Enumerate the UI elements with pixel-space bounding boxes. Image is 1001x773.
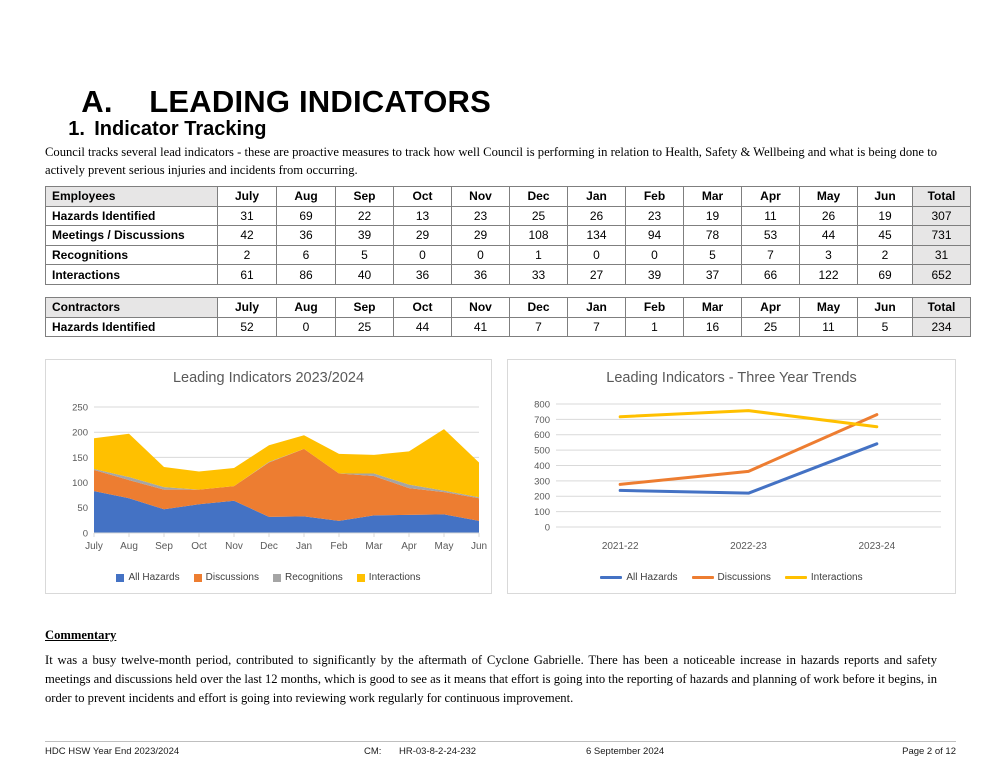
table-cell: 25: [336, 317, 394, 337]
y-axis-tick-label: 0: [545, 522, 550, 533]
legend-label: Interactions: [811, 572, 863, 583]
x-axis-tick-label: May: [435, 541, 454, 552]
y-axis-tick-label: 200: [534, 492, 550, 503]
table-cell: 7: [742, 245, 800, 265]
chart-legend: All HazardsDiscussionsInteractions: [508, 572, 955, 583]
legend-item: Discussions: [692, 572, 771, 583]
table-cell: 25: [510, 206, 568, 226]
table-cell: 29: [452, 226, 510, 246]
table-row-label: Interactions: [46, 265, 218, 285]
table-cell: 44: [394, 317, 452, 337]
table-cell: 0: [568, 245, 626, 265]
x-axis-tick-label: July: [85, 541, 103, 552]
chart-leading-indicators-trends: Leading Indicators - Three Year Trends 0…: [507, 359, 956, 594]
table-column-header: Total: [913, 187, 971, 207]
legend-swatch-icon: [194, 574, 202, 582]
table-cell: 0: [626, 245, 684, 265]
table-column-header: Sep: [336, 298, 394, 318]
line-series-all-hazards: [620, 444, 877, 493]
y-axis-tick-label: 100: [72, 478, 88, 489]
table-cell: 2: [218, 245, 277, 265]
y-axis-tick-label: 250: [72, 402, 88, 413]
table-total-cell: 731: [913, 226, 971, 246]
legend-item: Recognitions: [273, 572, 343, 583]
table-cell: 53: [742, 226, 800, 246]
x-axis-tick-label: Mar: [365, 541, 383, 552]
table-cell: 7: [568, 317, 626, 337]
table-column-header: Jun: [858, 187, 913, 207]
x-axis-tick-label: 2022-23: [730, 541, 767, 552]
x-axis-tick-label: 2023-24: [858, 541, 895, 552]
subsection-title: Indicator Tracking: [94, 118, 266, 140]
table-cell: 36: [452, 265, 510, 285]
chart-svg: 01002003004005006007008002021-222022-232…: [508, 360, 955, 593]
table-total-cell: 307: [913, 206, 971, 226]
document-page: A.LEADING INDICATORS 1.Indicator Trackin…: [0, 0, 1001, 773]
table-cell: 3: [800, 245, 858, 265]
table-column-header: Mar: [684, 298, 742, 318]
contractors-table: ContractorsJulyAugSepOctNovDecJanFebMarA…: [45, 297, 971, 337]
legend-label: Discussions: [718, 572, 771, 583]
table-column-header: Apr: [742, 187, 800, 207]
table-cell: 52: [218, 317, 277, 337]
y-axis-tick-label: 100: [534, 507, 550, 518]
x-axis-tick-label: Oct: [191, 541, 207, 552]
legend-label: Discussions: [206, 572, 259, 583]
table-column-header: Apr: [742, 298, 800, 318]
y-axis-tick-label: 600: [534, 430, 550, 441]
y-axis-tick-label: 200: [72, 428, 88, 439]
y-axis-tick-label: 50: [77, 503, 88, 514]
legend-item: Interactions: [357, 572, 421, 583]
legend-item: Interactions: [785, 572, 863, 583]
x-axis-tick-label: Jan: [296, 541, 312, 552]
table-cell: 134: [568, 226, 626, 246]
table-cell: 2: [858, 245, 913, 265]
legend-swatch-icon: [273, 574, 281, 582]
table-row-label: Hazards Identified: [46, 206, 218, 226]
table-cell: 0: [452, 245, 510, 265]
commentary-body: It was a busy twelve-month period, contr…: [45, 651, 937, 708]
y-axis-tick-label: 700: [534, 415, 550, 426]
legend-item: Discussions: [194, 572, 259, 583]
legend-item: All Hazards: [116, 572, 179, 583]
table-corner-header: Employees: [46, 187, 218, 207]
table-cell: 86: [277, 265, 336, 285]
legend-label: All Hazards: [128, 572, 179, 583]
table-cell: 5: [336, 245, 394, 265]
table-cell: 36: [277, 226, 336, 246]
legend-swatch-icon: [600, 576, 622, 579]
table-row-label: Meetings / Discussions: [46, 226, 218, 246]
table-row: Recognitions26500100573231: [46, 245, 971, 265]
table-cell: 11: [742, 206, 800, 226]
table-cell: 40: [336, 265, 394, 285]
y-axis-tick-label: 150: [72, 453, 88, 464]
footer-document-title: HDC HSW Year End 2023/2024: [45, 746, 179, 757]
footer-date: 6 September 2024: [586, 746, 664, 757]
table-cell: 78: [684, 226, 742, 246]
x-axis-tick-label: Apr: [401, 541, 417, 552]
table-column-header: May: [800, 187, 858, 207]
table-cell: 0: [394, 245, 452, 265]
table-cell: 42: [218, 226, 277, 246]
table-cell: 7: [510, 317, 568, 337]
y-axis-tick-label: 400: [534, 461, 550, 472]
table-cell: 13: [394, 206, 452, 226]
x-axis-tick-label: Sep: [155, 541, 173, 552]
table-cell: 69: [858, 265, 913, 285]
table-column-header: Dec: [510, 187, 568, 207]
table-cell: 6: [277, 245, 336, 265]
y-axis-tick-label: 800: [534, 399, 550, 410]
table-column-header: Oct: [394, 298, 452, 318]
subsection-number: 1.: [68, 118, 94, 141]
x-axis-tick-label: Feb: [330, 541, 348, 552]
y-axis-tick-label: 0: [83, 528, 88, 539]
x-axis-tick-label: Dec: [260, 541, 278, 552]
table-cell: 94: [626, 226, 684, 246]
table-row: Hazards Identified5202544417711625115234: [46, 317, 971, 337]
table-cell: 19: [858, 206, 913, 226]
table-cell: 37: [684, 265, 742, 285]
table-column-header: Jan: [568, 298, 626, 318]
table-cell: 5: [858, 317, 913, 337]
table-column-header: Nov: [452, 187, 510, 207]
table-cell: 36: [394, 265, 452, 285]
table-cell: 22: [336, 206, 394, 226]
table-cell: 23: [626, 206, 684, 226]
legend-label: Recognitions: [285, 572, 343, 583]
table-cell: 39: [626, 265, 684, 285]
table-column-header: July: [218, 187, 277, 207]
table-cell: 122: [800, 265, 858, 285]
table-column-header: Oct: [394, 187, 452, 207]
chart-svg: 050100150200250JulyAugSepOctNovDecJanFeb…: [46, 360, 491, 593]
table-row-label: Hazards Identified: [46, 317, 218, 337]
table-cell: 26: [800, 206, 858, 226]
x-axis-tick-label: Aug: [120, 541, 138, 552]
table-column-header: Nov: [452, 298, 510, 318]
table-cell: 33: [510, 265, 568, 285]
table-corner-header: Contractors: [46, 298, 218, 318]
table-cell: 45: [858, 226, 913, 246]
footer-cm-label: CM:: [364, 746, 381, 757]
table-column-header: Jun: [858, 298, 913, 318]
legend-swatch-icon: [357, 574, 365, 582]
legend-swatch-icon: [785, 576, 807, 579]
table-header-row: ContractorsJulyAugSepOctNovDecJanFebMarA…: [46, 298, 971, 318]
table-column-header: Jan: [568, 187, 626, 207]
table-cell: 1: [510, 245, 568, 265]
y-axis-tick-label: 300: [534, 476, 550, 487]
table-cell: 11: [800, 317, 858, 337]
table-total-cell: 31: [913, 245, 971, 265]
table-column-header: Dec: [510, 298, 568, 318]
footer-cm-value: HR-03-8-2-24-232: [399, 746, 476, 757]
table-cell: 26: [568, 206, 626, 226]
table-cell: 0: [277, 317, 336, 337]
legend-label: All Hazards: [626, 572, 677, 583]
table-column-header: Aug: [277, 187, 336, 207]
table-cell: 39: [336, 226, 394, 246]
line-series-discussions: [620, 415, 877, 485]
chart-legend: All HazardsDiscussionsRecognitionsIntera…: [46, 572, 491, 583]
table-cell: 69: [277, 206, 336, 226]
footer-divider: [45, 741, 956, 742]
y-axis-tick-label: 500: [534, 446, 550, 457]
table-cell: 44: [800, 226, 858, 246]
table-cell: 29: [394, 226, 452, 246]
legend-item: All Hazards: [600, 572, 677, 583]
table-cell: 27: [568, 265, 626, 285]
chart-leading-indicators-year: Leading Indicators 2023/2024 05010015020…: [45, 359, 492, 594]
table-cell: 31: [218, 206, 277, 226]
x-axis-tick-label: 2021-22: [602, 541, 639, 552]
table-column-header: Sep: [336, 187, 394, 207]
footer-page-number: Page 2 of 12: [902, 746, 956, 757]
table-row: Hazards Identified3169221323252623191126…: [46, 206, 971, 226]
table-cell: 61: [218, 265, 277, 285]
table-column-header: Total: [913, 298, 971, 318]
table-cell: 66: [742, 265, 800, 285]
table-column-header: May: [800, 298, 858, 318]
table-cell: 23: [452, 206, 510, 226]
x-axis-tick-label: Nov: [225, 541, 243, 552]
legend-label: Interactions: [369, 572, 421, 583]
chart-plot-area: 01002003004005006007008002021-222022-232…: [508, 360, 955, 593]
table-cell: 19: [684, 206, 742, 226]
table-cell: 108: [510, 226, 568, 246]
table-cell: 41: [452, 317, 510, 337]
table-cell: 25: [742, 317, 800, 337]
table-row: Interactions6186403636332739376612269652: [46, 265, 971, 285]
table-cell: 1: [626, 317, 684, 337]
table-header-row: EmployeesJulyAugSepOctNovDecJanFebMarApr…: [46, 187, 971, 207]
table-column-header: Feb: [626, 298, 684, 318]
table-row-label: Recognitions: [46, 245, 218, 265]
table-column-header: Feb: [626, 187, 684, 207]
table-cell: 16: [684, 317, 742, 337]
table-cell: 5: [684, 245, 742, 265]
table-column-header: Aug: [277, 298, 336, 318]
legend-swatch-icon: [116, 574, 124, 582]
legend-swatch-icon: [692, 576, 714, 579]
intro-paragraph: Council tracks several lead indicators -…: [45, 143, 937, 179]
chart-plot-area: 050100150200250JulyAugSepOctNovDecJanFeb…: [46, 360, 491, 593]
table-total-cell: 652: [913, 265, 971, 285]
employees-table: EmployeesJulyAugSepOctNovDecJanFebMarApr…: [45, 186, 971, 285]
line-series-interactions: [620, 411, 877, 427]
table-total-cell: 234: [913, 317, 971, 337]
table-column-header: Mar: [684, 187, 742, 207]
x-axis-tick-label: Jun: [471, 541, 487, 552]
table-row: Meetings / Discussions423639292910813494…: [46, 226, 971, 246]
commentary-heading: Commentary: [45, 628, 116, 643]
table-column-header: July: [218, 298, 277, 318]
